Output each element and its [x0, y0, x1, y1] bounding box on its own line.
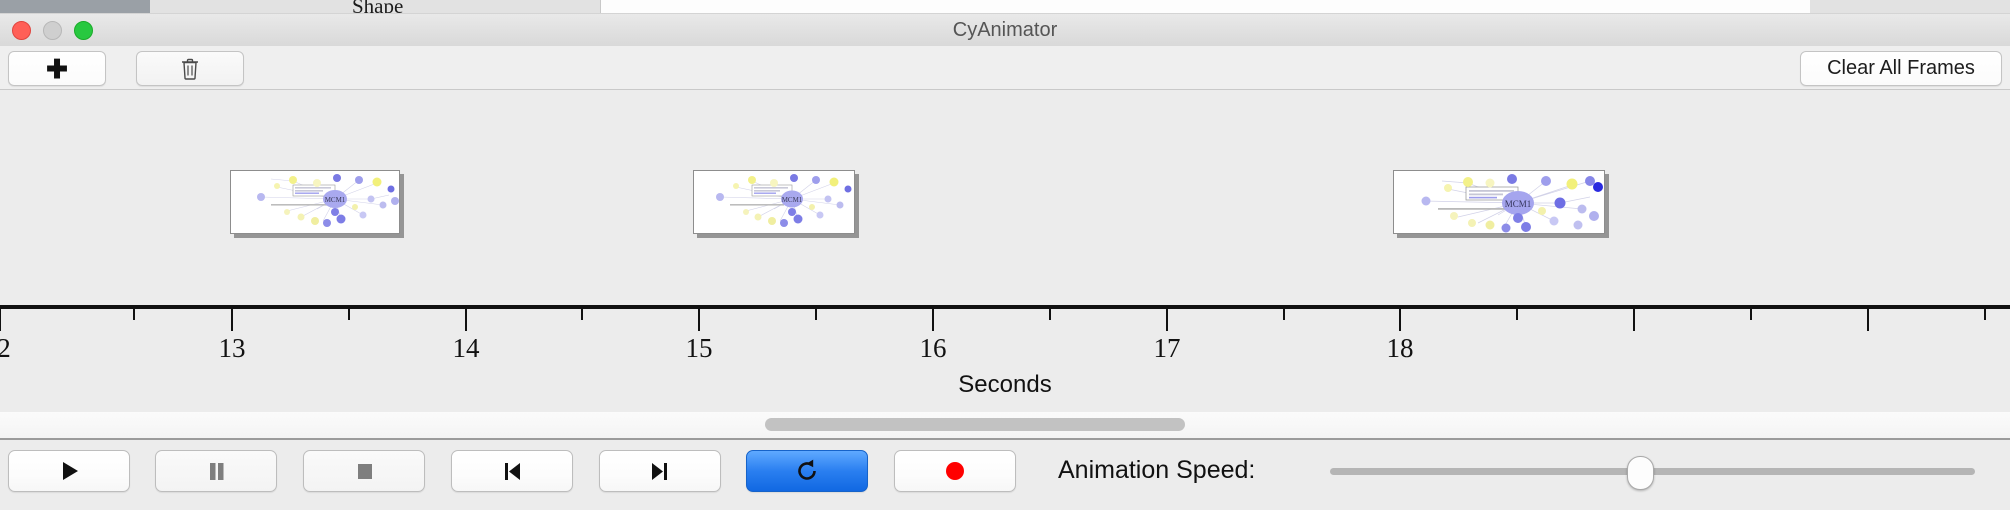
horizontal-scrollbar-track[interactable] [0, 412, 2010, 440]
axis-tick-minor [581, 309, 583, 320]
play-button[interactable] [8, 450, 130, 492]
network-graph-preview: MCM1 [694, 171, 854, 233]
axis-line [0, 305, 2010, 309]
loop-icon [793, 457, 821, 485]
timeline-frame-thumbnail[interactable]: MCM1 [230, 170, 400, 234]
axis-tick-label: 14 [453, 333, 480, 364]
axis-tick-major [1399, 309, 1401, 331]
axis-tick-major [1166, 309, 1168, 331]
pause-icon [203, 458, 229, 484]
skip-back-icon [499, 458, 525, 484]
axis-tick-major [932, 309, 934, 331]
background-window-strip: Shape [0, 0, 2010, 14]
player-controls-bar: Animation Speed: [0, 440, 2010, 510]
axis-tick-major [1633, 309, 1635, 331]
axis-tick-minor [815, 309, 817, 320]
axis-tick-major [0, 309, 1, 331]
axis-tick-major [465, 309, 467, 331]
timeline-panel[interactable]: MCM1 [0, 90, 2010, 412]
record-icon [942, 458, 968, 484]
axis-tick-label: 13 [219, 333, 246, 364]
axis-tick-major [1867, 309, 1869, 331]
clear-all-frames-label: Clear All Frames [1827, 57, 1975, 80]
toolbar: ✚ Clear All Frames [0, 46, 2010, 90]
svg-text:MCM1: MCM1 [1505, 199, 1532, 209]
axis-tick-major [698, 309, 700, 331]
animation-speed-slider[interactable] [1330, 468, 1975, 475]
stop-button[interactable] [303, 450, 425, 492]
play-icon [56, 458, 82, 484]
axis-tick-minor [133, 309, 135, 320]
axis-tick-minor [1984, 309, 1986, 320]
timeline-axis[interactable]: 2 13 14 15 16 17 18 Seconds [0, 305, 2010, 412]
plus-icon: ✚ [46, 56, 68, 82]
skip-forward-icon [647, 458, 673, 484]
axis-tick-minor [1049, 309, 1051, 320]
trash-icon [180, 58, 200, 80]
svg-text:MCM1: MCM1 [782, 196, 803, 204]
axis-tick-label: 17 [1154, 333, 1181, 364]
axis-tick-label: 18 [1387, 333, 1414, 364]
pause-button[interactable] [155, 450, 277, 492]
next-frame-button[interactable] [599, 450, 721, 492]
axis-tick-major [231, 309, 233, 331]
add-frame-button[interactable]: ✚ [8, 51, 106, 86]
timeline-frame-thumbnail[interactable]: MCM1 [693, 170, 855, 234]
title-bar: CyAnimator [0, 14, 2010, 47]
prev-frame-button[interactable] [451, 450, 573, 492]
loop-button[interactable] [746, 450, 868, 492]
frames-layer: MCM1 [0, 90, 2010, 305]
axis-title: Seconds [0, 371, 2010, 399]
axis-tick-minor [1516, 309, 1518, 320]
axis-tick-minor [1283, 309, 1285, 320]
stop-icon [351, 458, 377, 484]
record-button[interactable] [894, 450, 1016, 492]
background-window-label: Shape [352, 0, 403, 14]
timeline-frame-thumbnail[interactable]: MCM1 [1393, 170, 1605, 234]
axis-tick-label: 16 [920, 333, 947, 364]
network-graph-preview: MCM1 [1394, 171, 1604, 233]
delete-frame-button[interactable] [136, 51, 244, 86]
window-title: CyAnimator [0, 14, 2010, 46]
svg-text:MCM1: MCM1 [325, 196, 346, 204]
cyanimator-window: Shape CyAnimator ✚ Clear All Frames [0, 0, 2010, 510]
axis-tick-minor [348, 309, 350, 320]
clear-all-frames-button[interactable]: Clear All Frames [1800, 51, 2002, 86]
slider-thumb[interactable] [1627, 456, 1654, 490]
animation-speed-label: Animation Speed: [1058, 450, 1255, 490]
axis-tick-label: 15 [686, 333, 713, 364]
horizontal-scrollbar-thumb[interactable] [765, 418, 1185, 431]
axis-tick-minor [1750, 309, 1752, 320]
axis-tick-label: 2 [0, 333, 11, 364]
network-graph-preview: MCM1 [231, 171, 399, 233]
